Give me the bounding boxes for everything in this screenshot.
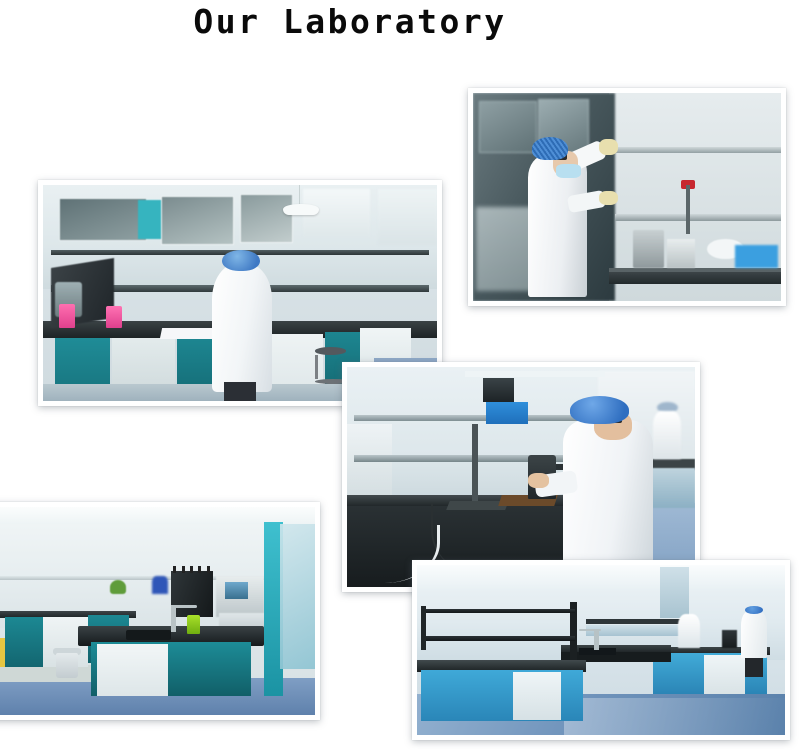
scene-glass-panel [479,101,536,153]
scene-blue-hairnet [532,137,569,160]
photo-technician-microscope[interactable] [347,367,695,587]
scene-stool-seat [315,347,347,355]
laboratory-gallery-page: Our Laboratory [0,0,800,750]
scene-faucet [594,630,599,650]
scene-rack-shelf [421,609,576,613]
scene-lab-coat [741,611,767,659]
photo-card-empty-lab-sink[interactable] [0,502,320,720]
scene-window [240,194,293,244]
photo-card-technician-reaching-shelf[interactable] [468,88,786,306]
scene-bench [609,272,781,284]
scene-shelf [615,214,781,221]
scene-background-worker [653,411,681,459]
scene-stand [472,424,478,508]
scene-drying-rack [171,571,213,617]
photo-card-wide-lab-bottle-racks[interactable] [412,560,790,740]
photo-wide-lab-bottle-racks[interactable] [417,565,785,735]
scene-glove [599,139,617,156]
scene-instrument [633,230,664,267]
scene-hand [528,473,549,488]
scene-sink-basin [126,630,171,640]
scene-tap [686,185,690,235]
scene-faucet [171,605,176,632]
scene-shelf [615,147,781,153]
scene-yellow-object [0,638,5,667]
scene-fume-hood [280,524,315,670]
scene-microscope [722,630,737,649]
photo-empty-lab-sink[interactable] [0,507,315,715]
scene-shelf [354,415,591,421]
scene-green-wash-bottle [187,615,200,634]
scene-rack-post [421,606,426,650]
scene-spray-bottle [59,304,75,328]
scene-trousers [745,657,763,677]
photo-card-technician-microscope[interactable] [342,362,700,592]
scene-face-mask [556,164,581,179]
scene-lamp-stem [299,185,300,204]
scene-rack-shelf [421,636,576,640]
scene-pendant-lamp [283,204,318,215]
scene-blue-equipment [486,402,528,424]
scene-instrument [667,239,695,268]
scene-lab-coat [563,420,653,583]
scene-cabinet [5,617,43,667]
scene-bright-window [378,189,437,245]
scene-stool-post [315,355,318,379]
scene-drawers-right [704,655,744,694]
scene-spray-bottle [106,306,122,328]
scene-blue-mat [735,245,778,268]
page-title: Our Laboratory [0,2,700,41]
scene-pillar [660,567,689,618]
scene-background-worker [678,614,700,648]
scene-ceiling [417,565,785,589]
scene-plant [110,580,126,595]
scene-lab-coat [212,263,271,393]
scene-instrument-screen [225,582,247,599]
scene-paperwork [160,328,217,339]
scene-background-worker [152,576,168,595]
scene-blue-cap [570,396,629,425]
photo-technician-reaching-shelf[interactable] [473,93,781,301]
scene-waste-bin [56,653,78,678]
scene-ceiling-light [465,371,604,377]
scene-equipment [483,378,514,402]
scene-floor-highlight [564,698,785,735]
scene-glove [599,191,617,206]
scene-blue-cap [222,250,259,272]
scene-island-drawers [97,644,167,696]
scene-window [59,198,148,241]
scene-window [161,196,234,246]
scene-drawers-left [513,672,561,720]
scene-floor-strip [0,665,97,682]
scene-trousers [224,382,256,401]
